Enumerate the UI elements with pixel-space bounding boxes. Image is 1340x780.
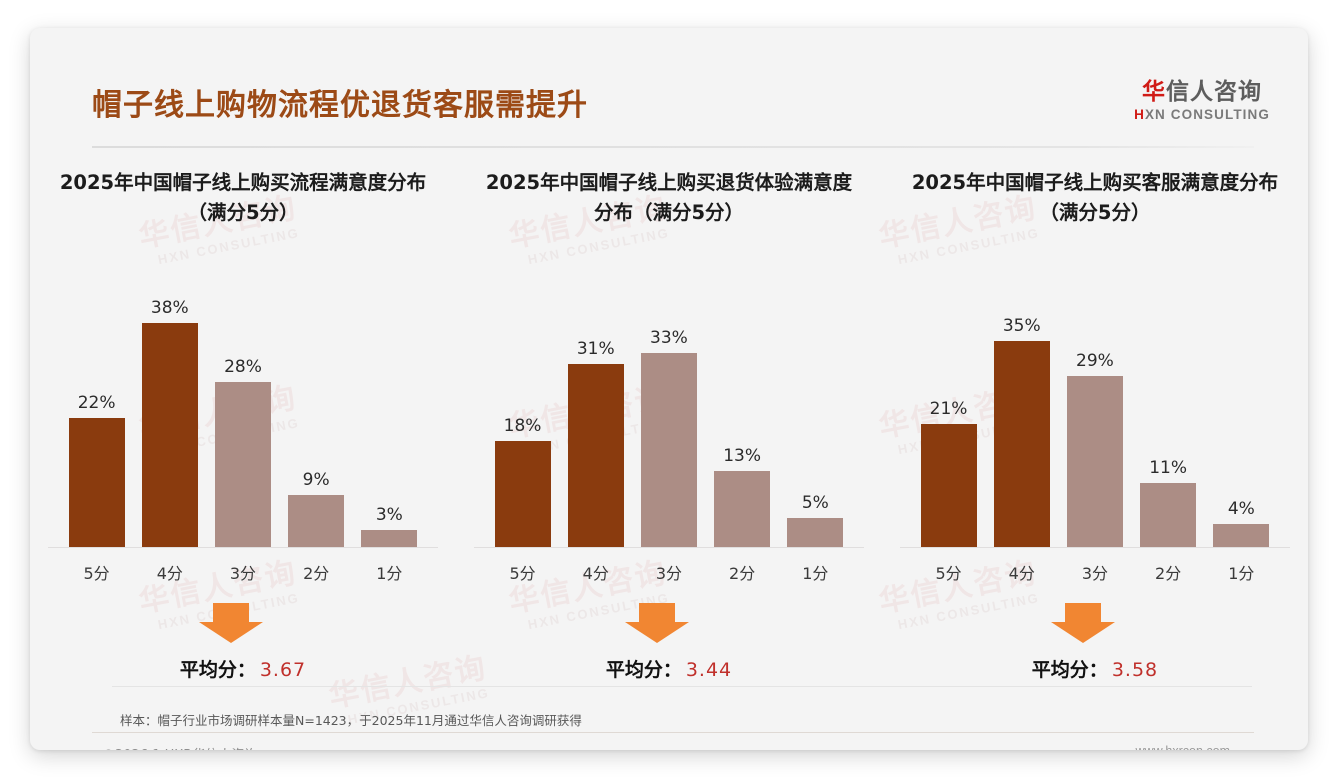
footnote: 样本：帽子行业市场调研样本量N=1423，于2025年11月通过华信人咨询调研获…: [120, 710, 582, 729]
chart-title: 2025年中国帽子线上购买客服满意度分布（满分5分）: [900, 168, 1290, 256]
bar[interactable]: [994, 341, 1050, 548]
bar[interactable]: [69, 418, 125, 548]
logo-english-rest: XN CONSULTING: [1145, 107, 1270, 122]
logo-english-highlight: H: [1134, 107, 1145, 122]
average-score-value: 3.44: [686, 659, 732, 681]
chart-plot-area: 21%35%29%11%4%5分4分3分2分1分: [900, 278, 1290, 548]
bar-value-label: 35%: [1003, 318, 1041, 335]
bar-column[interactable]: 9%: [283, 278, 349, 548]
bar-value-label: 18%: [504, 418, 542, 435]
bar[interactable]: [1213, 524, 1269, 548]
bar-column[interactable]: 18%: [490, 278, 556, 548]
slide-header: 帽子线上购物流程优退货客服需提升 华信人咨询 HXN CONSULTING: [30, 28, 1308, 140]
brand-logo: 华信人咨询 HXN CONSULTING: [1134, 80, 1270, 122]
average-score-block: 平均分：3.44: [474, 603, 864, 691]
bar-value-label: 13%: [723, 448, 761, 465]
x-tick-label: 1分: [356, 560, 422, 584]
bar[interactable]: [714, 471, 770, 548]
bar-value-label: 3%: [376, 507, 403, 524]
average-score-block: 平均分：3.67: [48, 603, 438, 691]
logo-chinese-highlight: 华: [1142, 79, 1166, 105]
chart-title: 2025年中国帽子线上购买流程满意度分布（满分5分）: [48, 168, 438, 256]
logo-english: HXN CONSULTING: [1134, 107, 1270, 122]
bar-value-label: 29%: [1076, 353, 1114, 370]
x-axis-line: [474, 547, 864, 548]
x-tick-label: 3分: [1062, 560, 1128, 584]
bar-value-label: 33%: [650, 330, 688, 347]
bar[interactable]: [641, 353, 697, 548]
bar[interactable]: [787, 518, 843, 548]
x-tick-label: 2分: [1135, 560, 1201, 584]
footer-divider: [92, 732, 1254, 733]
footer-copyright: ©2026.1 HXR华信人咨询: [102, 744, 257, 750]
bar[interactable]: [568, 364, 624, 548]
x-tick-label: 1分: [782, 560, 848, 584]
bar[interactable]: [215, 382, 271, 548]
chart-plot-area: 18%31%33%13%5%5分4分3分2分1分: [474, 278, 864, 548]
bar-column[interactable]: 31%: [563, 278, 629, 548]
bar[interactable]: [1140, 483, 1196, 548]
x-axis-line: [48, 547, 438, 548]
bar[interactable]: [495, 441, 551, 548]
x-tick-label: 5分: [64, 560, 130, 584]
x-axis-line: [900, 547, 1290, 548]
x-tick-label: 4分: [137, 560, 203, 584]
bar-column[interactable]: 33%: [636, 278, 702, 548]
x-tick-label: 4分: [989, 560, 1055, 584]
bar-column[interactable]: 28%: [210, 278, 276, 548]
bar-value-label: 22%: [78, 395, 116, 412]
average-score-value: 3.67: [260, 659, 306, 681]
bar-column[interactable]: 29%: [1062, 278, 1128, 548]
bar-group: 22%38%28%9%3%: [60, 278, 426, 548]
average-score-value: 3.58: [1112, 659, 1158, 681]
charts-row: 2025年中国帽子线上购买流程满意度分布（满分5分）22%38%28%9%3%5…: [30, 168, 1308, 691]
bar-value-label: 28%: [224, 359, 262, 376]
logo-chinese-rest: 信人咨询: [1166, 79, 1262, 105]
chart-panel-1: 2025年中国帽子线上购买流程满意度分布（满分5分）22%38%28%9%3%5…: [30, 168, 456, 691]
x-tick-label: 5分: [916, 560, 982, 584]
bar[interactable]: [361, 530, 417, 548]
bar-value-label: 31%: [577, 341, 615, 358]
bar-column[interactable]: 38%: [137, 278, 203, 548]
x-tick-label: 2分: [283, 560, 349, 584]
page-title: 帽子线上购物流程优退货客服需提升: [92, 80, 588, 124]
x-axis-tick-labels: 5分4分3分2分1分: [60, 560, 426, 584]
average-score-text: 平均分：3.58: [900, 655, 1290, 682]
bar[interactable]: [1067, 376, 1123, 548]
x-tick-label: 1分: [1208, 560, 1274, 584]
down-arrow-icon: [199, 603, 263, 643]
bar-value-label: 9%: [303, 472, 330, 489]
chart-panel-2: 2025年中国帽子线上购买退货体验满意度分布（满分5分）18%31%33%13%…: [456, 168, 882, 691]
average-score-block: 平均分：3.58: [900, 603, 1290, 691]
x-axis-tick-labels: 5分4分3分2分1分: [912, 560, 1278, 584]
bar-value-label: 38%: [151, 300, 189, 317]
footer-website[interactable]: www.hxrcon.com: [1136, 744, 1230, 750]
logo-chinese: 华信人咨询: [1134, 80, 1270, 104]
x-axis-tick-labels: 5分4分3分2分1分: [486, 560, 852, 584]
bar[interactable]: [921, 424, 977, 548]
bar-value-label: 21%: [930, 401, 968, 418]
x-tick-label: 2分: [709, 560, 775, 584]
bar-column[interactable]: 3%: [356, 278, 422, 548]
bar[interactable]: [288, 495, 344, 548]
footnote-divider: [112, 686, 1252, 687]
x-tick-label: 4分: [563, 560, 629, 584]
x-tick-label: 5分: [490, 560, 556, 584]
bar[interactable]: [142, 323, 198, 548]
bar-column[interactable]: 11%: [1135, 278, 1201, 548]
bar-column[interactable]: 35%: [989, 278, 1055, 548]
average-score-text: 平均分：3.44: [474, 655, 864, 682]
bar-column[interactable]: 13%: [709, 278, 775, 548]
bar-column[interactable]: 5%: [782, 278, 848, 548]
bar-column[interactable]: 21%: [916, 278, 982, 548]
average-score-label: 平均分：: [180, 659, 256, 681]
bar-column[interactable]: 4%: [1208, 278, 1274, 548]
down-arrow-icon: [625, 603, 689, 643]
average-score-label: 平均分：: [1032, 659, 1108, 681]
average-score-label: 平均分：: [606, 659, 682, 681]
chart-title: 2025年中国帽子线上购买退货体验满意度分布（满分5分）: [474, 168, 864, 256]
bar-value-label: 5%: [802, 495, 829, 512]
bar-group: 21%35%29%11%4%: [912, 278, 1278, 548]
bar-value-label: 11%: [1149, 460, 1187, 477]
bar-value-label: 4%: [1228, 501, 1255, 518]
bar-group: 18%31%33%13%5%: [486, 278, 852, 548]
x-tick-label: 3分: [210, 560, 276, 584]
down-arrow-icon: [1051, 603, 1115, 643]
bar-column[interactable]: 22%: [64, 278, 130, 548]
title-divider: [92, 146, 1254, 148]
chart-panel-3: 2025年中国帽子线上购买客服满意度分布（满分5分）21%35%29%11%4%…: [882, 168, 1308, 691]
x-tick-label: 3分: [636, 560, 702, 584]
slide-card: 华信人咨询HXN CONSULTING华信人咨询HXN CONSULTING华信…: [30, 28, 1308, 750]
average-score-text: 平均分：3.67: [48, 655, 438, 682]
chart-plot-area: 22%38%28%9%3%5分4分3分2分1分: [48, 278, 438, 548]
